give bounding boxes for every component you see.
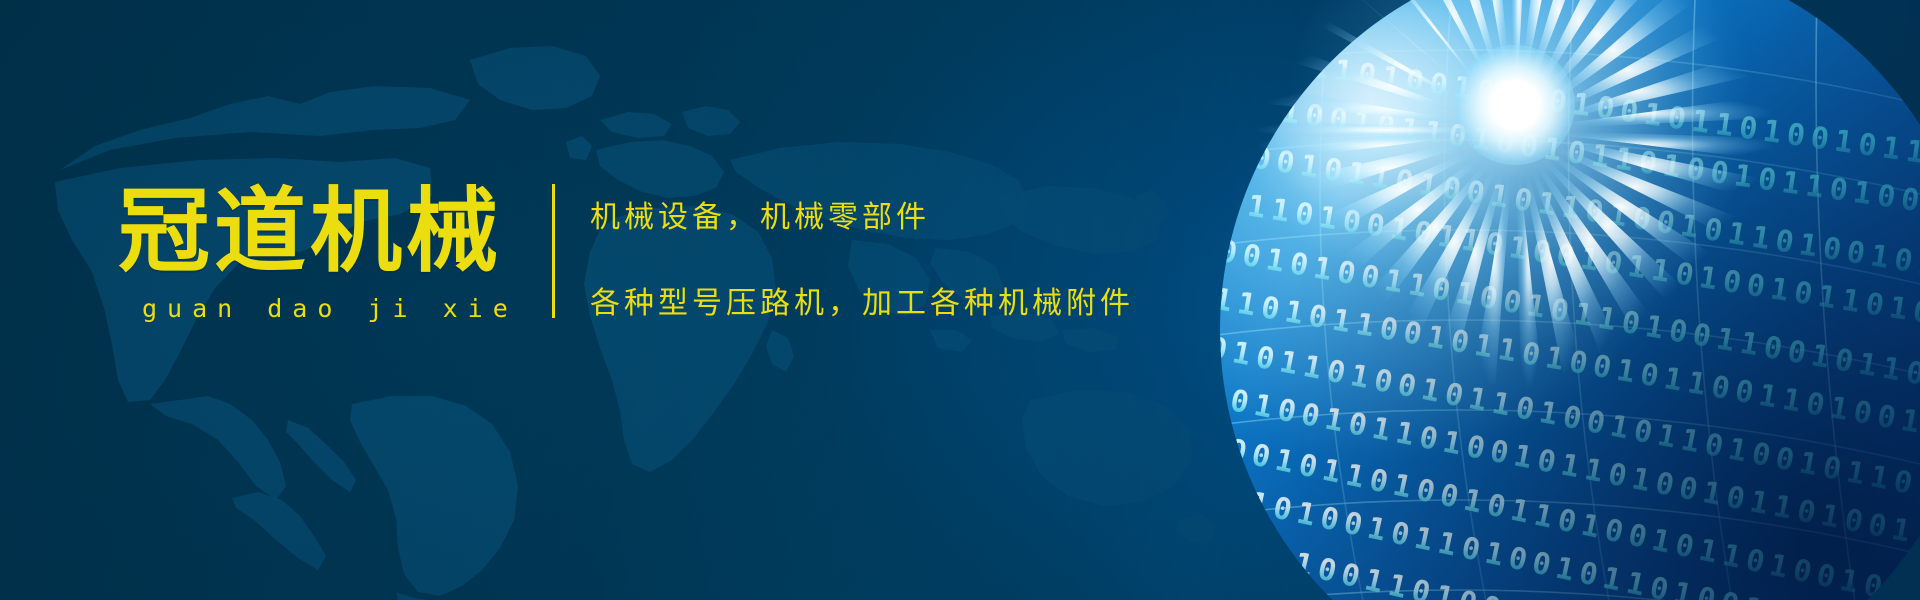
logo-block: 冠道机械 guan dao ji xie [118,186,538,323]
banner-content: 冠道机械 guan dao ji xie 机械设备，机械零部件 各种型号压路机，… [0,0,1920,600]
hero-banner: 10010110100101101001011010010110 0110100… [0,0,1920,600]
company-name-pinyin: guan dao ji xie [118,294,538,323]
tagline-list: 机械设备，机械零部件 各种型号压路机，加工各种机械附件 [590,192,1134,322]
vertical-divider [552,184,555,318]
tagline-primary: 机械设备，机械零部件 [590,192,1134,236]
company-name-cn: 冠道机械 [118,186,538,278]
tagline-secondary: 各种型号压路机，加工各种机械附件 [590,278,1134,322]
